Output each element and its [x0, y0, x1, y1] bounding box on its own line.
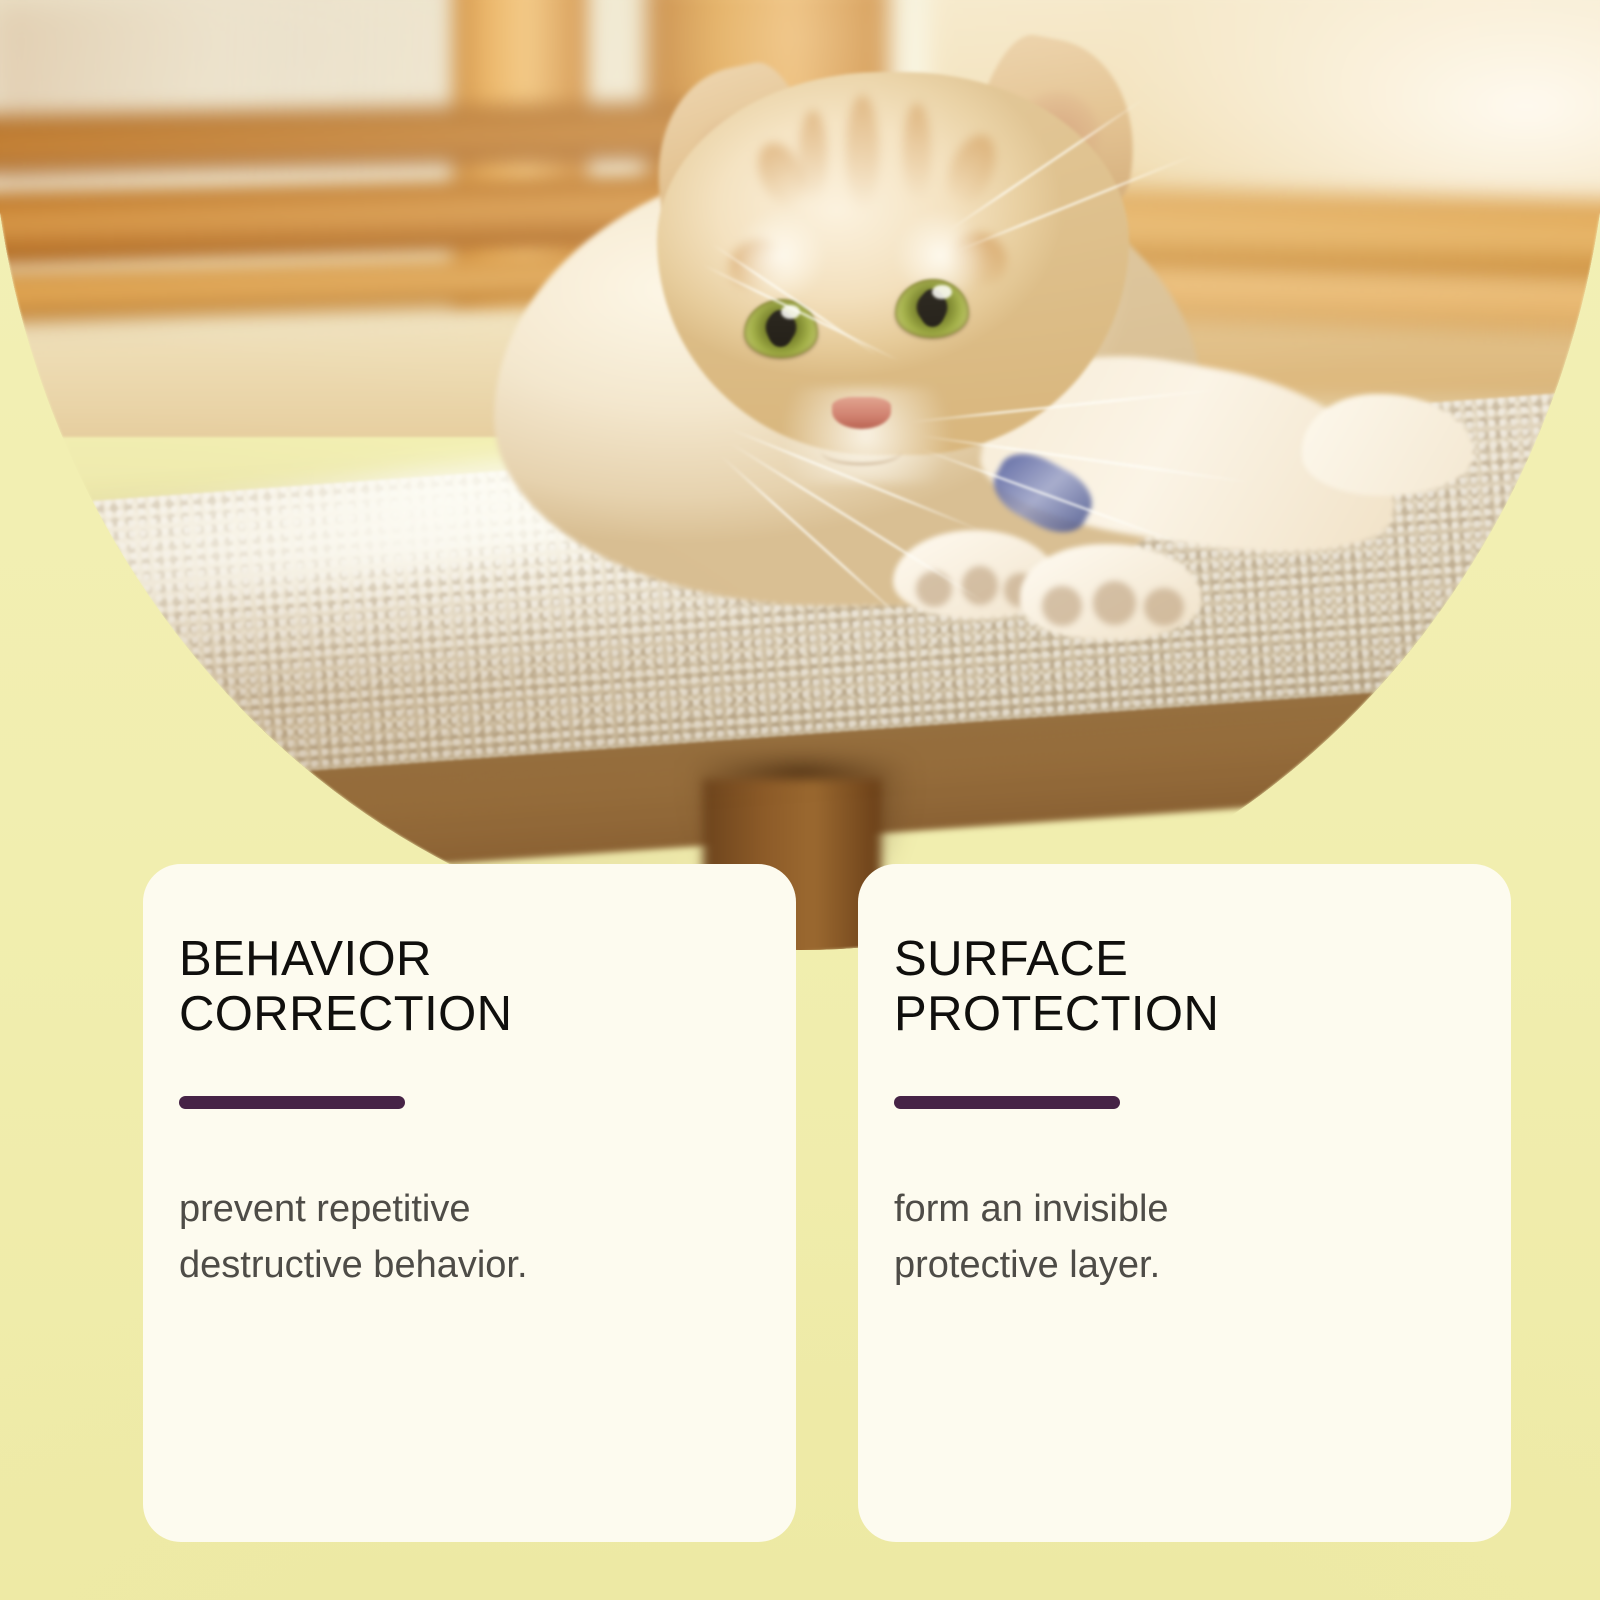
- hero-photo: [0, 0, 1600, 950]
- hero-image-circle: [0, 0, 1600, 950]
- kitten: [476, 38, 1383, 722]
- card-body-text: prevent repetitive destructive behavior.: [179, 1181, 760, 1293]
- card-title: BEHAVIOR CORRECTION: [179, 932, 760, 1043]
- card-accent-rule: [894, 1096, 1120, 1109]
- poster-canvas: BEHAVIOR CORRECTION prevent repetitive d…: [0, 0, 1600, 1600]
- feature-card-row: BEHAVIOR CORRECTION prevent repetitive d…: [143, 864, 1511, 1542]
- kitten-eye-glint-right: [932, 285, 951, 299]
- feature-card-surface-protection[interactable]: SURFACE PROTECTION form an invisible pro…: [858, 864, 1511, 1542]
- kitten-paw-front-right: [1020, 544, 1201, 640]
- card-accent-rule: [179, 1096, 405, 1109]
- card-title: SURFACE PROTECTION: [894, 932, 1475, 1043]
- feature-card-behavior-correction[interactable]: BEHAVIOR CORRECTION prevent repetitive d…: [143, 864, 796, 1542]
- card-body-text: form an invisible protective layer.: [894, 1181, 1475, 1293]
